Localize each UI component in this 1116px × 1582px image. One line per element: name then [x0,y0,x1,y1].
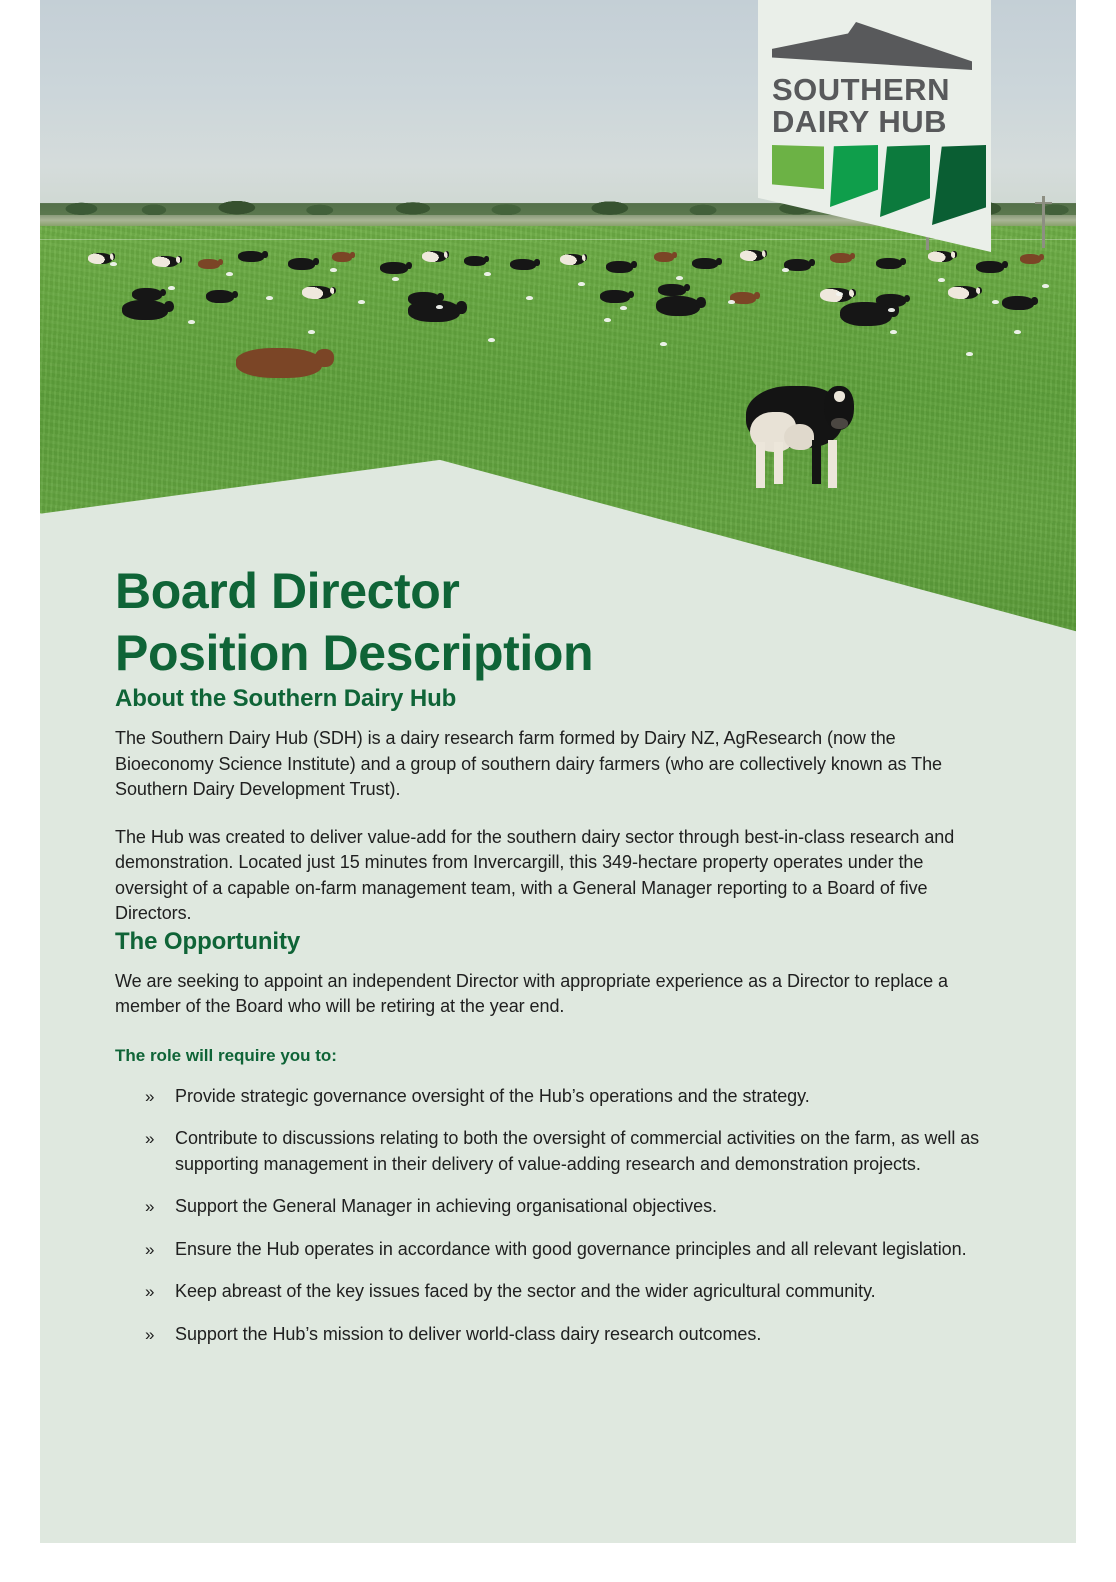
list-item: » Contribute to discussions relating to … [115,1126,995,1177]
section-heading-opportunity: The Opportunity [115,927,995,957]
cow [876,258,902,269]
bird [888,308,895,312]
cow [288,258,315,270]
bird [1014,330,1021,334]
cow [380,262,408,274]
bird [226,272,233,276]
power-pole [1042,196,1045,248]
bird [392,277,399,281]
list-item-text: Provide strategic governance oversight o… [175,1086,810,1106]
bird [436,305,443,309]
fence-line [40,239,1076,240]
cow [840,302,892,326]
list-item: » Support the Hub’s mission to deliver w… [115,1322,995,1348]
bird [308,330,315,334]
bird [110,262,117,266]
cow [928,251,953,262]
cow [302,286,332,299]
bird [966,352,973,356]
paddock-stripe-2 [830,145,878,207]
cow-leg [756,442,765,488]
cow [976,261,1004,273]
list-item: » Keep abreast of the key issues faced b… [115,1279,995,1305]
list-item-text: Support the General Manager in achieving… [175,1196,717,1216]
cow [830,253,852,263]
cow [1002,296,1034,310]
cow [464,256,486,266]
bird [484,272,491,276]
paddock-stripe-3 [880,145,930,217]
bullet-marker-icon: » [145,1126,154,1152]
cow [422,251,446,262]
bird [330,268,337,272]
bullet-marker-icon: » [145,1322,154,1348]
cow [206,290,234,303]
paddock-stripe-4 [932,145,986,225]
content-body: Board Director Position Description Abou… [115,560,995,1364]
cow [692,258,718,269]
page-title: Board Director Position Description [115,560,995,684]
cow [560,254,584,265]
section-heading-about: About the Southern Dairy Hub [115,684,995,714]
about-paragraph-2: The Hub was created to deliver value-add… [115,825,995,927]
content-panel: Board Director Position Description Abou… [40,455,1076,1543]
document-page: SOUTHERN DAIRY HUB Board Director Positi… [0,0,1116,1582]
bird [992,300,999,304]
cow [152,256,178,267]
bird [890,330,897,334]
cow [408,300,460,322]
bird [604,318,611,322]
cow [122,300,168,320]
cow-leg [828,440,837,488]
cow [236,348,322,378]
cow-blaze [834,391,845,402]
cow [88,253,112,264]
list-item: » Provide strategic governance oversight… [115,1084,995,1110]
page-title-line2: Position Description [115,622,995,684]
role-requirements-list: » Provide strategic governance oversight… [115,1084,995,1348]
cow [948,286,978,299]
cow-leg [774,442,783,484]
bird [266,296,273,300]
list-item-text: Support the Hub’s mission to deliver wor… [175,1324,761,1344]
bullet-marker-icon: » [145,1237,154,1263]
bullet-marker-icon: » [145,1279,154,1305]
cow-patch [784,424,814,450]
bullet-marker-icon: » [145,1194,154,1220]
bird [676,276,683,280]
cow [656,296,700,316]
bird [836,292,843,296]
about-paragraph-1: The Southern Dairy Hub (SDH) is a dairy … [115,726,995,803]
logo-text-line2: DAIRY HUB [772,105,947,138]
bird [526,296,533,300]
cow [510,259,536,270]
list-item: » Ensure the Hub operates in accordance … [115,1237,995,1263]
cow-leg [812,440,821,484]
cow [238,251,264,262]
cow [198,259,220,269]
cow [654,252,674,262]
cow [606,261,633,273]
bird [578,282,585,286]
cow [740,250,764,261]
bird [488,338,495,342]
list-item-text: Keep abreast of the key issues faced by … [175,1281,876,1301]
opportunity-paragraph-1: We are seeking to appoint an independent… [115,969,995,1020]
bullet-marker-icon: » [145,1084,154,1110]
foreground-cow [740,378,860,500]
bird [660,342,667,346]
list-item: » Support the General Manager in achievi… [115,1194,995,1220]
bird [728,300,735,304]
paddock-stripe-1 [772,145,824,193]
list-item-text: Ensure the Hub operates in accordance wi… [175,1239,967,1259]
bird [620,306,627,310]
cow [600,290,630,303]
cow [658,284,686,296]
list-item-text: Contribute to discussions relating to bo… [175,1128,979,1174]
role-list-lead-in: The role will require you to: [115,1044,995,1068]
logo-text-line1: SOUTHERN [772,73,950,106]
bird [358,300,365,304]
cow [332,252,352,262]
cow [1020,254,1041,264]
bird [782,268,789,272]
bird [168,286,175,290]
barn-roof-icon [772,22,972,70]
bird [938,278,945,282]
bird [1042,284,1049,288]
cow-muzzle [831,418,848,429]
bird [188,320,195,324]
